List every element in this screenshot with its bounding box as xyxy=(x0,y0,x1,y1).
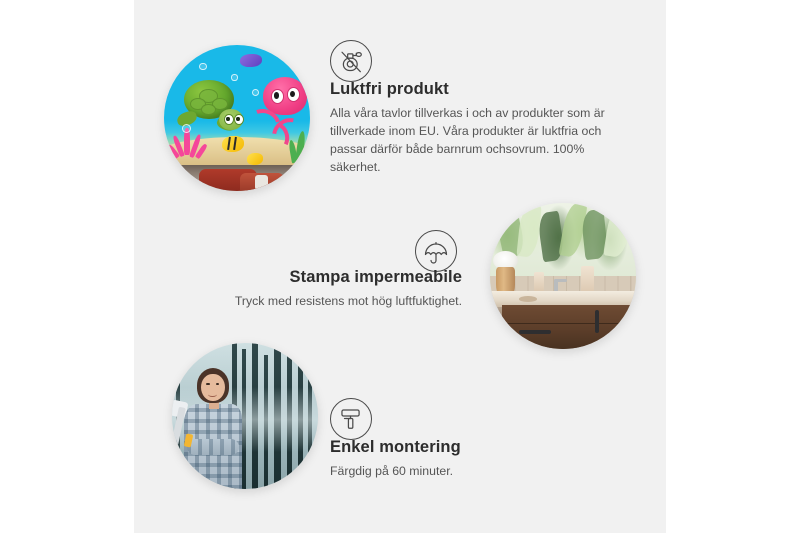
bubble-2 xyxy=(199,63,207,71)
bathroom-bottle-right xyxy=(581,266,594,294)
bathroom-drawer-handle xyxy=(519,330,551,334)
bubble-4 xyxy=(231,74,237,80)
fish-yellow-small xyxy=(247,153,263,165)
bubble-3 xyxy=(252,89,259,96)
bathroom-door-handle xyxy=(595,310,599,333)
feature-body-odour-free: Alla våra tavlor tillverkas i och av pro… xyxy=(330,104,630,176)
umbrella-icon xyxy=(415,230,457,272)
product-image-underwater-mural[interactable] xyxy=(164,45,310,191)
woman-crossed-arms xyxy=(187,439,240,455)
product-image-bathroom[interactable] xyxy=(490,203,636,349)
woman-face xyxy=(201,374,224,402)
bathroom-bottle-left xyxy=(534,272,544,292)
feature-body-easy-install: Färgdig på 60 minuter. xyxy=(330,462,630,480)
bubble-1 xyxy=(182,124,191,133)
bathroom-drawer-line xyxy=(502,323,636,324)
feature-body-waterproof: Tryck med resistens mot hög luftfuktighe… xyxy=(154,292,462,310)
perfume-bottle-crossed-icon xyxy=(330,40,372,82)
content-panel: Luktfri produkt Alla våra tavlor tillver… xyxy=(134,0,666,533)
screenshot-root: Luktfri produkt Alla våra tavlor tillver… xyxy=(0,0,800,533)
octopus-head xyxy=(263,77,307,115)
bathroom-vanity-cabinet xyxy=(502,305,636,349)
product-image-forest-wallpaper[interactable] xyxy=(172,343,318,489)
feature-text-easy-install: Enkel montering Färgdig på 60 minuter. xyxy=(330,438,630,480)
feature-text-odour-free: Luktfri produkt Alla våra tavlor tillver… xyxy=(330,80,630,176)
feature-title-odour-free: Luktfri produkt xyxy=(330,80,630,99)
paint-roller-icon xyxy=(330,398,372,440)
octopus-pupil-left xyxy=(274,92,279,98)
woman-smile xyxy=(208,391,217,396)
feature-title-easy-install: Enkel montering xyxy=(330,438,630,457)
turtle-pupil-left xyxy=(226,117,230,122)
feature-text-waterproof: Stampa impermeabile Tryck med resistens … xyxy=(154,268,462,310)
bathroom-faucet-spout xyxy=(554,279,567,282)
feature-title-waterproof: Stampa impermeabile xyxy=(154,268,462,287)
underwater-room-object xyxy=(255,175,268,190)
coral-cluster xyxy=(171,125,209,163)
fish-purple xyxy=(240,54,262,67)
